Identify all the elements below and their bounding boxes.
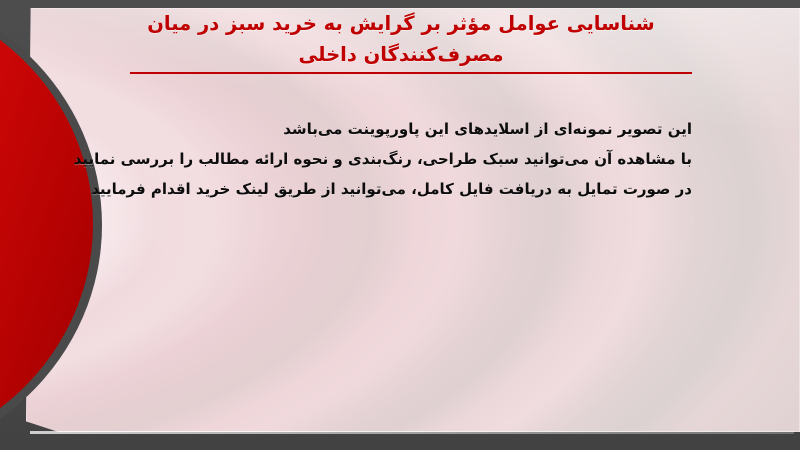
presentation-slide: شناسایی عوامل مؤثر بر گرایش به خرید سبز … (0, 0, 800, 450)
body-text-block: این تصویر نمونه‌ای از اسلایدهای این پاور… (102, 118, 692, 200)
title-divider-rule (130, 72, 692, 74)
body-line-1: این تصویر نمونه‌ای از اسلایدهای این پاور… (102, 118, 692, 141)
title-block: شناسایی عوامل مؤثر بر گرایش به خرید سبز … (108, 9, 694, 71)
slide-title: شناسایی عوامل مؤثر بر گرایش به خرید سبز … (108, 9, 694, 71)
body-line-2: با مشاهده آن می‌توانید سبک طراحی، رنگ‌بن… (102, 148, 692, 171)
body-line-3: در صورت تمایل به دریافت فایل کامل، می‌تو… (102, 178, 692, 201)
